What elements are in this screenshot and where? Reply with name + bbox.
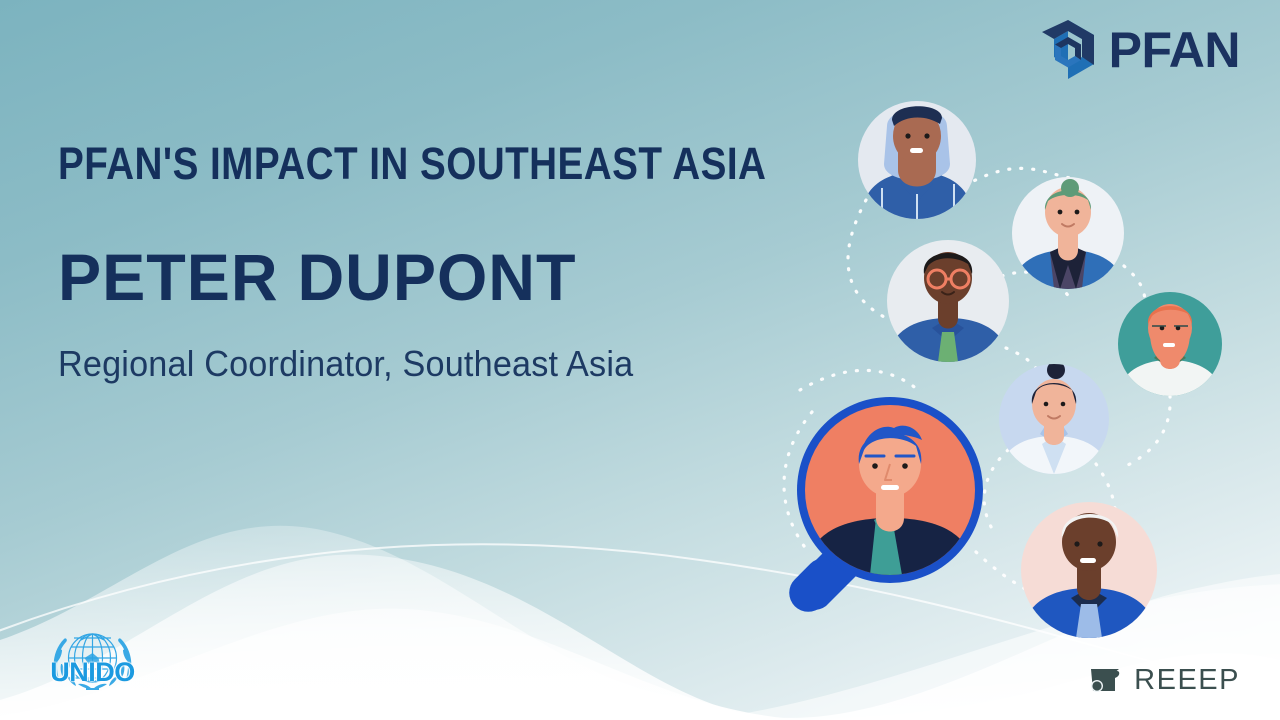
title-block: PFAN'S IMPACT IN SOUTHEAST ASIA PETER DU… — [58, 140, 818, 385]
avatar-man-red-beard — [1118, 292, 1222, 396]
avatar-person-green-bun — [1012, 177, 1124, 289]
reeep-wordmark: REEEP — [1134, 666, 1240, 695]
unido-wordmark: UNIDO — [30, 657, 155, 688]
unido-logo: UNIDO — [30, 631, 155, 698]
pfan-wordmark: PFAN — [1109, 25, 1240, 75]
person-role: Regional Coordinator, Southeast Asia — [58, 343, 780, 385]
people-network-graphic — [740, 60, 1260, 680]
pfan-hex-logo-icon — [1035, 17, 1101, 83]
avatar-man-round-glasses — [887, 240, 1009, 362]
reeep-mark-icon — [1089, 667, 1123, 695]
avatar-woman-silver-hair — [858, 101, 976, 220]
page-title: PFAN'S IMPACT IN SOUTHEAST ASIA — [58, 140, 712, 187]
avatar-woman-dark-bun — [999, 361, 1109, 474]
person-name: PETER DUPONT — [58, 243, 803, 312]
avatar-man-white-hair — [1021, 502, 1157, 638]
pfan-logo: PFAN — [1035, 17, 1240, 83]
slide-canvas: PFAN'S IMPACT IN SOUTHEAST ASIA PETER DU… — [0, 0, 1280, 720]
reeep-logo: REEEP — [1089, 666, 1240, 695]
magnifier-focus — [781, 397, 983, 620]
